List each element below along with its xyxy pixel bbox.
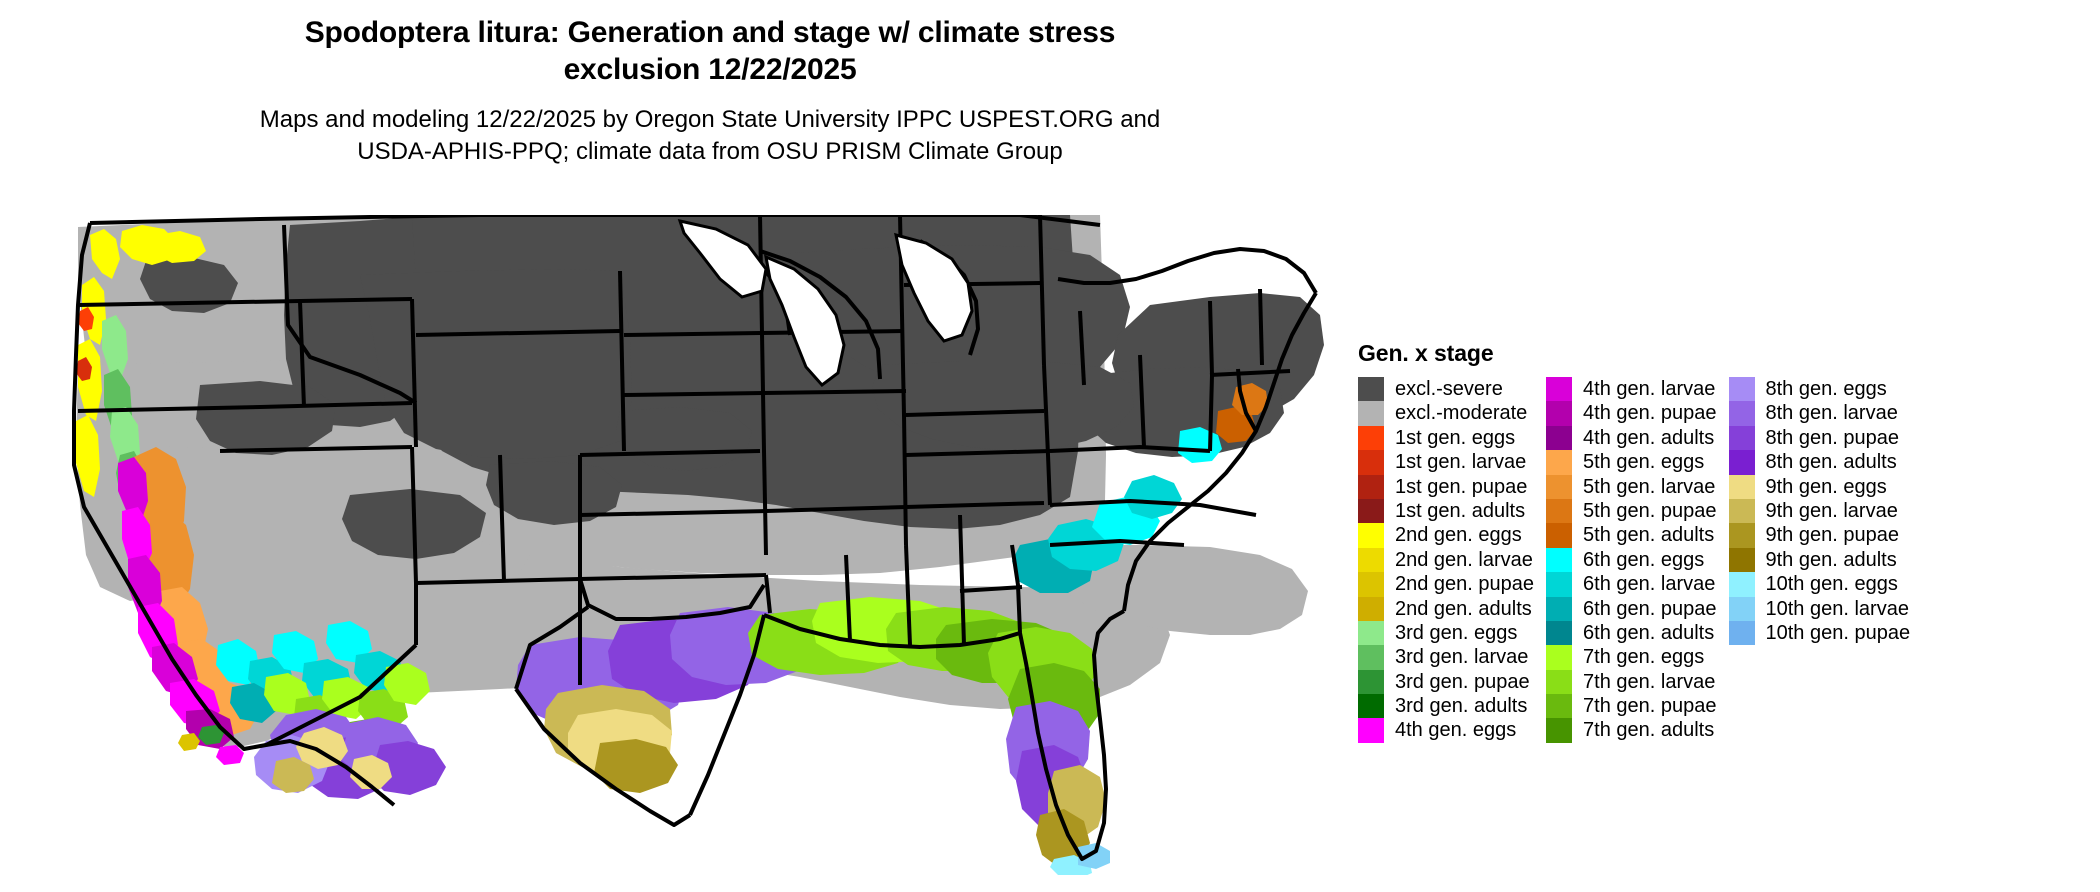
legend-item-label: 6th gen. eggs <box>1583 548 1704 572</box>
legend-swatch <box>1729 572 1755 596</box>
legend-item[interactable]: 9th gen. eggs <box>1729 475 1911 499</box>
legend-item-label: 7th gen. pupae <box>1583 694 1716 718</box>
legend-item[interactable]: 7th gen. larvae <box>1546 670 1716 694</box>
legend-swatch <box>1546 377 1572 401</box>
legend-item[interactable]: 3rd gen. pupae <box>1358 670 1534 694</box>
legend-swatch <box>1729 597 1755 621</box>
legend-column-2: 4th gen. larvae 4th gen. pupae 4th gen. … <box>1546 377 1716 743</box>
legend-item[interactable]: 2nd gen. eggs <box>1358 523 1534 547</box>
legend-item-label: 4th gen. larvae <box>1583 377 1715 401</box>
legend-item-label: 10th gen. pupae <box>1766 621 1911 645</box>
legend-item-label: 7th gen. eggs <box>1583 645 1704 669</box>
legend-item[interactable]: excl.-severe <box>1358 377 1534 401</box>
legend-item[interactable]: excl.-moderate <box>1358 401 1534 425</box>
legend-item[interactable]: 9th gen. pupae <box>1729 523 1911 547</box>
legend-item[interactable]: 3rd gen. eggs <box>1358 621 1534 645</box>
legend-item-label: 3rd gen. larvae <box>1395 645 1528 669</box>
legend-item-label: 7th gen. adults <box>1583 718 1714 742</box>
legend-item[interactable]: 7th gen. eggs <box>1546 645 1716 669</box>
legend-item[interactable]: 7th gen. adults <box>1546 718 1716 742</box>
legend-swatch <box>1729 548 1755 572</box>
legend-item-label: 4th gen. eggs <box>1395 718 1516 742</box>
legend-item[interactable]: 2nd gen. adults <box>1358 597 1534 621</box>
legend-swatch <box>1729 401 1755 425</box>
legend-item-label: 1st gen. larvae <box>1395 450 1526 474</box>
legend-swatch <box>1358 694 1384 718</box>
legend-swatch <box>1729 450 1755 474</box>
legend-item[interactable]: 1st gen. adults <box>1358 499 1534 523</box>
page-title-line2: exclusion 12/22/2025 <box>0 51 1420 88</box>
legend-item[interactable]: 8th gen. larvae <box>1729 401 1911 425</box>
legend-item[interactable]: 6th gen. larvae <box>1546 572 1716 596</box>
legend-item-label: 3rd gen. eggs <box>1395 621 1517 645</box>
legend-swatch <box>1546 499 1572 523</box>
legend-swatch <box>1729 377 1755 401</box>
legend-item-label: 2nd gen. larvae <box>1395 548 1533 572</box>
legend-item-label: 2nd gen. eggs <box>1395 523 1522 547</box>
legend-item[interactable]: 5th gen. larvae <box>1546 475 1716 499</box>
legend-item-label: 4th gen. pupae <box>1583 401 1716 425</box>
legend-item[interactable]: 1st gen. eggs <box>1358 426 1534 450</box>
legend-item-label: excl.-moderate <box>1395 401 1527 425</box>
page-title-line1: Spodoptera litura: Generation and stage … <box>0 14 1420 51</box>
legend-swatch <box>1358 523 1384 547</box>
legend-swatch <box>1358 718 1384 742</box>
legend-swatch <box>1358 499 1384 523</box>
legend-swatch <box>1358 548 1384 572</box>
page-subtitle-line1: Maps and modeling 12/22/2025 by Oregon S… <box>0 104 1420 136</box>
legend-swatch <box>1546 718 1572 742</box>
legend-swatch <box>1358 670 1384 694</box>
legend-item-label: 9th gen. eggs <box>1766 475 1887 499</box>
legend-title: Gen. x stage <box>1358 340 2078 367</box>
legend-swatch <box>1546 426 1572 450</box>
legend-item-label: 8th gen. eggs <box>1766 377 1887 401</box>
legend-swatch <box>1358 377 1384 401</box>
legend-swatch <box>1546 694 1572 718</box>
legend-item-label: 9th gen. larvae <box>1766 499 1898 523</box>
legend-swatch <box>1546 670 1572 694</box>
legend-item-label: 10th gen. eggs <box>1766 572 1898 596</box>
legend-item[interactable]: 5th gen. eggs <box>1546 450 1716 474</box>
legend-swatch <box>1358 645 1384 669</box>
legend-swatch <box>1358 401 1384 425</box>
legend-columns: excl.-severe excl.-moderate 1st gen. egg… <box>1358 377 2078 743</box>
legend-item-label: 6th gen. adults <box>1583 621 1714 645</box>
map-svg <box>60 215 1350 875</box>
legend-swatch <box>1729 523 1755 547</box>
legend-swatch <box>1546 450 1572 474</box>
legend-swatch <box>1546 572 1572 596</box>
map-page: Spodoptera litura: Generation and stage … <box>0 0 2100 892</box>
legend-item[interactable]: 6th gen. pupae <box>1546 597 1716 621</box>
page-subtitle: Maps and modeling 12/22/2025 by Oregon S… <box>0 104 1420 168</box>
legend-item-label: 6th gen. larvae <box>1583 572 1715 596</box>
legend-item[interactable]: 9th gen. larvae <box>1729 499 1911 523</box>
legend-item-label: 1st gen. adults <box>1395 499 1525 523</box>
legend-item-label: 3rd gen. pupae <box>1395 670 1530 694</box>
legend-item-label: 5th gen. eggs <box>1583 450 1704 474</box>
legend-swatch <box>1358 597 1384 621</box>
legend-item-label: 3rd gen. adults <box>1395 694 1527 718</box>
legend-swatch <box>1546 597 1572 621</box>
legend-swatch <box>1546 475 1572 499</box>
legend-item[interactable]: 1st gen. larvae <box>1358 450 1534 474</box>
legend-item[interactable]: 10th gen. pupae <box>1729 621 1911 645</box>
legend-item[interactable]: 4th gen. larvae <box>1546 377 1716 401</box>
legend-item[interactable]: 1st gen. pupae <box>1358 475 1534 499</box>
legend-swatch <box>1358 475 1384 499</box>
legend-item[interactable]: 6th gen. eggs <box>1546 548 1716 572</box>
legend-swatch <box>1729 475 1755 499</box>
legend-item-label: excl.-severe <box>1395 377 1503 401</box>
legend-swatch <box>1358 450 1384 474</box>
legend-column-1: excl.-severe excl.-moderate 1st gen. egg… <box>1358 377 1534 743</box>
legend-swatch <box>1358 621 1384 645</box>
legend-swatch <box>1729 426 1755 450</box>
legend-item-label: 8th gen. adults <box>1766 450 1897 474</box>
legend: Gen. x stage excl.-severe excl.-moderate… <box>1358 340 2078 743</box>
page-title: Spodoptera litura: Generation and stage … <box>0 14 1420 88</box>
legend-swatch <box>1546 645 1572 669</box>
legend-item[interactable]: 4th gen. eggs <box>1358 718 1534 742</box>
legend-item-label: 4th gen. adults <box>1583 426 1714 450</box>
legend-swatch <box>1546 621 1572 645</box>
legend-item[interactable]: 2nd gen. larvae <box>1358 548 1534 572</box>
legend-swatch <box>1546 401 1572 425</box>
legend-item-label: 9th gen. pupae <box>1766 523 1899 547</box>
legend-item[interactable]: 10th gen. larvae <box>1729 597 1911 621</box>
legend-item[interactable]: 7th gen. pupae <box>1546 694 1716 718</box>
legend-item[interactable]: 8th gen. adults <box>1729 450 1911 474</box>
legend-item-label: 1st gen. pupae <box>1395 475 1527 499</box>
legend-item-label: 7th gen. larvae <box>1583 670 1715 694</box>
page-subtitle-line2: USDA-APHIS-PPQ; climate data from OSU PR… <box>0 136 1420 168</box>
legend-swatch <box>1546 523 1572 547</box>
legend-item[interactable]: 3rd gen. adults <box>1358 694 1534 718</box>
legend-item[interactable]: 2nd gen. pupae <box>1358 572 1534 596</box>
legend-item-label: 5th gen. larvae <box>1583 475 1715 499</box>
legend-item-label: 6th gen. pupae <box>1583 597 1716 621</box>
legend-item-label: 1st gen. eggs <box>1395 426 1515 450</box>
legend-item[interactable]: 5th gen. pupae <box>1546 499 1716 523</box>
legend-item-label: 10th gen. larvae <box>1766 597 1909 621</box>
legend-swatch <box>1729 621 1755 645</box>
legend-item-label: 2nd gen. pupae <box>1395 572 1534 596</box>
legend-item-label: 9th gen. adults <box>1766 548 1897 572</box>
legend-item-label: 5th gen. adults <box>1583 523 1714 547</box>
legend-item[interactable]: 4th gen. adults <box>1546 426 1716 450</box>
legend-swatch <box>1358 572 1384 596</box>
legend-item-label: 8th gen. pupae <box>1766 426 1899 450</box>
legend-item-label: 8th gen. larvae <box>1766 401 1898 425</box>
legend-swatch <box>1729 499 1755 523</box>
legend-item-label: 2nd gen. adults <box>1395 597 1532 621</box>
legend-item[interactable]: 6th gen. adults <box>1546 621 1716 645</box>
legend-column-3: 8th gen. eggs 8th gen. larvae 8th gen. p… <box>1729 377 1911 645</box>
legend-swatch <box>1546 548 1572 572</box>
us-choropleth-map <box>60 215 1350 875</box>
legend-item[interactable]: 8th gen. eggs <box>1729 377 1911 401</box>
legend-item[interactable]: 9th gen. adults <box>1729 548 1911 572</box>
legend-item[interactable]: 5th gen. adults <box>1546 523 1716 547</box>
legend-item[interactable]: 3rd gen. larvae <box>1358 645 1534 669</box>
legend-item[interactable]: 10th gen. eggs <box>1729 572 1911 596</box>
legend-item[interactable]: 8th gen. pupae <box>1729 426 1911 450</box>
legend-swatch <box>1358 426 1384 450</box>
legend-item-label: 5th gen. pupae <box>1583 499 1716 523</box>
legend-item[interactable]: 4th gen. pupae <box>1546 401 1716 425</box>
title-block: Spodoptera litura: Generation and stage … <box>0 14 1420 168</box>
